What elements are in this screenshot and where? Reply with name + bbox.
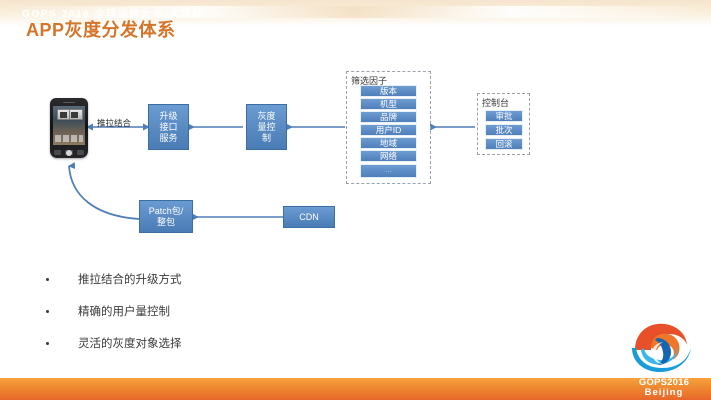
box-gray-volume-control[interactable]: 灰度 量控 制 bbox=[246, 104, 287, 150]
filter-item-more-label: … bbox=[386, 166, 392, 176]
phone-app-icons bbox=[55, 135, 83, 142]
logo-caption-line2: Beijing bbox=[645, 388, 684, 398]
bullet-item-3: 灵活的灰度对象选择 bbox=[46, 335, 182, 351]
box-patch-line2: 整包 bbox=[149, 217, 184, 228]
filter-item-region[interactable]: 地域 bbox=[360, 137, 417, 149]
box-cdn[interactable]: CDN bbox=[283, 206, 335, 228]
filter-item-network[interactable]: 网络 bbox=[360, 150, 417, 162]
filter-item-brand-label: 品牌 bbox=[380, 112, 397, 122]
bullet-item-2: 精确的用户量控制 bbox=[46, 303, 170, 319]
bullet-item-2-label: 精确的用户量控制 bbox=[78, 303, 170, 319]
box-upgrade-api-line2: 接口 bbox=[159, 122, 177, 133]
bullet-item-1: 推拉结合的升级方式 bbox=[46, 271, 182, 287]
group-console-title: 控制台 bbox=[482, 96, 509, 109]
smartphone-icon bbox=[50, 98, 88, 158]
phone-screen bbox=[53, 106, 85, 145]
filter-item-brand[interactable]: 品牌 bbox=[360, 111, 417, 123]
filter-item-user-id[interactable]: 用户ID bbox=[360, 124, 417, 136]
edge-label-push-pull: 推拉结合 bbox=[97, 117, 131, 129]
phone-clock-widget bbox=[57, 109, 83, 120]
bullet-marker bbox=[46, 310, 49, 313]
phone-speaker bbox=[63, 102, 75, 104]
filter-item-user-id-label: 用户ID bbox=[376, 125, 402, 135]
box-gray-line1: 灰度 bbox=[257, 111, 275, 122]
filter-item-version-label: 版本 bbox=[380, 86, 397, 96]
bullet-marker bbox=[46, 342, 49, 345]
console-item-approval[interactable]: 审批 bbox=[485, 110, 523, 122]
logo-caption: GOPS2016 Beijing bbox=[627, 377, 701, 399]
box-gray-line2: 量控 bbox=[257, 122, 275, 133]
filter-item-model[interactable]: 机型 bbox=[360, 98, 417, 110]
box-gray-line3: 制 bbox=[257, 133, 275, 144]
footer-conference-text: GOPS 2016 全球运维大会·北京站 bbox=[22, 5, 204, 20]
box-upgrade-api-line1: 升级 bbox=[159, 111, 177, 122]
box-patch-package[interactable]: Patch包/ 整包 bbox=[139, 200, 193, 233]
footer-bar bbox=[0, 378, 711, 400]
filter-item-version[interactable]: 版本 bbox=[360, 85, 417, 97]
box-upgrade-api[interactable]: 升级 接口 服务 bbox=[148, 104, 189, 150]
console-item-batch[interactable]: 批次 bbox=[485, 124, 523, 136]
filter-item-more[interactable]: … bbox=[360, 164, 417, 178]
bullet-marker bbox=[46, 278, 49, 281]
console-item-batch-label: 批次 bbox=[495, 125, 512, 135]
filter-item-network-label: 网络 bbox=[380, 151, 397, 161]
slide-canvas: APP灰度分发体系 推拉结合 bbox=[0, 0, 711, 400]
bullet-item-1-label: 推拉结合的升级方式 bbox=[78, 271, 182, 287]
console-item-rollback[interactable]: 回滚 bbox=[485, 138, 523, 150]
bullet-item-3-label: 灵活的灰度对象选择 bbox=[78, 335, 182, 351]
box-patch-line1: Patch包/ bbox=[149, 206, 184, 217]
phone-home-button bbox=[66, 150, 72, 156]
box-cdn-label: CDN bbox=[299, 212, 319, 223]
box-upgrade-api-line3: 服务 bbox=[159, 133, 177, 144]
console-item-approval-label: 审批 bbox=[495, 111, 512, 121]
filter-item-region-label: 地域 bbox=[380, 138, 397, 148]
filter-item-model-label: 机型 bbox=[380, 99, 397, 109]
console-item-rollback-label: 回滚 bbox=[495, 139, 512, 149]
gops-logo-icon bbox=[627, 318, 701, 378]
